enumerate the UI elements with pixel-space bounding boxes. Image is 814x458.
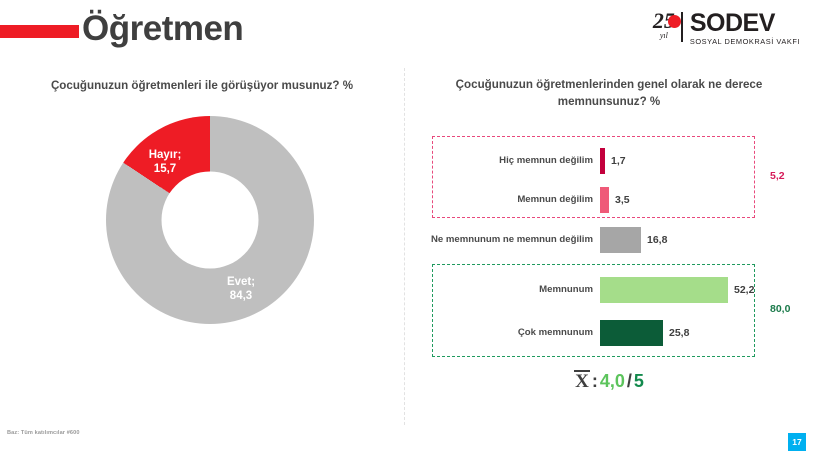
bar-row: Ne memnunum ne memnun değilim 16,8 bbox=[418, 227, 808, 253]
bar-row: Çok memnunum 25,8 bbox=[418, 320, 808, 346]
bar-value-memnun-degilim: 3,5 bbox=[615, 194, 630, 206]
mean-value: 4,0 bbox=[600, 371, 625, 391]
donut-chart-container: Hayır; 15,7 Evet; 84,3 bbox=[106, 116, 314, 324]
bar-value-ne-memnunum-ne-memnun-degilim: 16,8 bbox=[647, 234, 667, 246]
bar-row: Hiç memnun değilim 1,7 bbox=[418, 148, 808, 174]
bar-value-hic-memnun-degilim: 1,7 bbox=[611, 155, 626, 167]
page-title: Öğretmen bbox=[82, 7, 243, 51]
bar-label-hic-memnun-degilim: Hiç memnun değilim bbox=[418, 155, 600, 167]
group-total-positive: 80,0 bbox=[770, 303, 790, 315]
logo-text-block: SODEV SOSYAL DEMOKRASİ VAKFI bbox=[690, 10, 800, 47]
bar-track: 52,2 bbox=[600, 277, 808, 303]
header-accent-bar bbox=[0, 25, 79, 38]
bar-chart-container: Hiç memnun değilim 1,7 Memnun değilim 3,… bbox=[418, 130, 808, 360]
bar-fill-cok-memnunum bbox=[600, 320, 663, 346]
bar-fill-hic-memnun-degilim bbox=[600, 148, 605, 174]
footer-base-note: Baz: Tüm katılımcılar #600 bbox=[7, 430, 80, 436]
logo-wordmark: SODEV bbox=[690, 11, 800, 36]
donut-slice-label-hayir: Hayır; 15,7 bbox=[134, 148, 196, 176]
group-total-negative: 5,2 bbox=[770, 170, 785, 182]
logo-anniversary-unit: yıl bbox=[660, 31, 668, 40]
bar-track: 16,8 bbox=[600, 227, 808, 253]
mean-symbol: X bbox=[574, 370, 590, 392]
bar-track: 25,8 bbox=[600, 320, 808, 346]
bar-row: Memnunum 52,2 bbox=[418, 277, 808, 303]
donut-center-hole bbox=[162, 172, 259, 269]
bar-fill-memnunum bbox=[600, 277, 728, 303]
donut-slice-label-evet: Evet; 84,3 bbox=[210, 275, 272, 303]
bar-label-ne-memnunum-ne-memnun-degilim: Ne memnunum ne memnun değilim bbox=[418, 234, 600, 246]
right-panel-question: Çocuğunuzun öğretmenlerinden genel olara… bbox=[418, 76, 800, 110]
bar-value-cok-memnunum: 25,8 bbox=[669, 327, 689, 339]
panel-divider bbox=[404, 68, 405, 425]
mean-max: 5 bbox=[634, 371, 644, 391]
bar-row: Memnun değilim 3,5 bbox=[418, 187, 808, 213]
bar-fill-ne-memnunum-ne-memnun-degilim bbox=[600, 227, 641, 253]
logo-circle-icon bbox=[668, 15, 681, 28]
mean-slash: / bbox=[627, 371, 632, 391]
bar-label-cok-memnunum: Çok memnunum bbox=[418, 327, 600, 339]
bar-fill-memnun-degilim bbox=[600, 187, 609, 213]
bar-value-memnunum: 52,2 bbox=[734, 284, 754, 296]
left-panel-question: Çocuğunuzun öğretmenleri ile görüşüyor m… bbox=[22, 78, 382, 94]
mean-score: X:4,0/5 bbox=[418, 370, 800, 392]
page-number-badge: 17 bbox=[788, 433, 806, 451]
bar-label-memnunum: Memnunum bbox=[418, 284, 600, 296]
logo-tagline: SOSYAL DEMOKRASİ VAKFI bbox=[690, 37, 800, 47]
mean-colon: : bbox=[592, 371, 598, 391]
brand-logo: 25 yıl SODEV SOSYAL DEMOKRASİ VAKFI bbox=[653, 10, 800, 50]
logo-divider bbox=[681, 12, 683, 42]
bar-track: 3,5 bbox=[600, 187, 808, 213]
bar-label-memnun-degilim: Memnun değilim bbox=[418, 194, 600, 206]
